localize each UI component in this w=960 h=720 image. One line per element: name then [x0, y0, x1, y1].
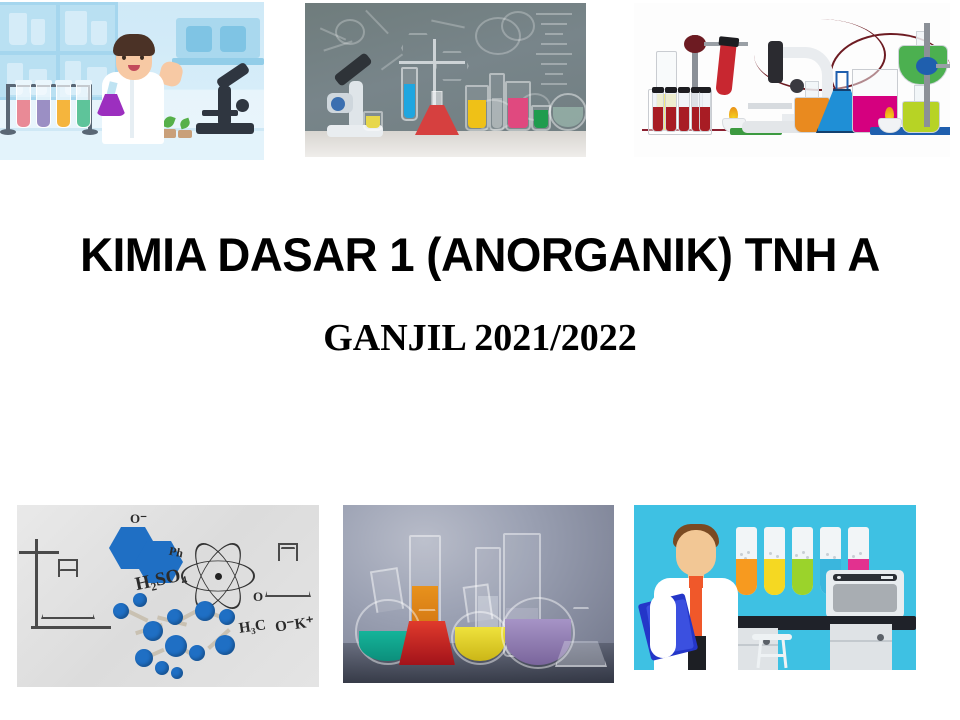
teal-flask-neck — [370, 567, 404, 613]
scientist-character-cyan — [648, 522, 744, 670]
lab-stool — [752, 634, 792, 668]
sketch-retort-stand — [35, 539, 38, 629]
yellow-beaker — [465, 85, 489, 131]
image-photo-glass-flasks-with-colored-liquids[interactable] — [343, 505, 614, 683]
image-vector-laboratory-apparatus-set[interactable] — [634, 3, 950, 157]
cabinet-right — [830, 624, 892, 670]
stand-pole-right — [924, 23, 930, 127]
label-o-minus: O⁻ — [130, 511, 147, 527]
small-yellow-beaker — [363, 111, 383, 131]
test-tube-green — [792, 527, 813, 595]
sketch-graduated-flask — [265, 543, 311, 597]
sketch-molecule-model — [109, 591, 259, 683]
clear-cylinder — [489, 73, 505, 131]
page-title: KIMIA DASAR 1 (ANORGANIK) TNH A — [14, 226, 945, 284]
vector-apparatus-artwork — [634, 3, 950, 157]
red-erlenmeyer — [399, 609, 455, 665]
title-block: KIMIA DASAR 1 (ANORGANIK) TNH A GANJIL 2… — [0, 226, 960, 359]
microscope-icon — [192, 72, 258, 134]
scientist-character — [92, 20, 176, 144]
image-flat-illustration-scientist-in-laboratory[interactable] — [0, 2, 264, 160]
lab-illustration-artwork — [0, 2, 264, 160]
yellow-green-flask — [902, 85, 940, 133]
image-photo-microscope-and-flasks-on-chalkboard-background[interactable] — [305, 3, 586, 157]
test-tube-rack-vector — [648, 89, 712, 135]
test-tube-rack — [6, 76, 90, 132]
wall-shelf-board — [172, 58, 264, 65]
round-bottom-flask — [549, 93, 586, 131]
image-hand-drawn-chemistry-sketches[interactable]: O⁻ Ph H₂SO₄ O H₃C O⁻K⁺ — [17, 505, 319, 687]
lab-equipment-box — [826, 570, 904, 618]
flask-photo-artwork — [343, 505, 614, 683]
spirit-burner-right — [878, 107, 900, 133]
label-ok: O⁻K⁺ — [274, 612, 315, 636]
green-beaker — [531, 105, 551, 131]
page-subtitle: GANJIL 2021/2022 — [0, 317, 960, 359]
clear-erlenmeyer — [555, 607, 607, 667]
dna-helix-doodle — [536, 9, 572, 95]
pink-beaker — [505, 81, 531, 131]
cyan-lab-artwork — [634, 505, 916, 670]
chalkboard-photo-artwork — [305, 3, 586, 157]
clamp — [684, 35, 706, 53]
red-erlenmeyer-flask — [415, 91, 459, 135]
image-flat-illustration-scientist-with-test-tubes[interactable] — [634, 505, 916, 670]
test-tube-yellow — [764, 527, 785, 595]
blood-sample-tube — [715, 42, 736, 95]
clamp-right — [916, 57, 938, 75]
yellow-flask-neck — [463, 583, 494, 622]
sketch-flask — [41, 559, 95, 619]
chemistry-sketch-artwork: O⁻ Ph H₂SO₄ O H₃C O⁻K⁺ — [17, 505, 319, 687]
wall-shelf — [176, 18, 260, 58]
slide-canvas: KIMIA DASAR 1 (ANORGANIK) TNH A GANJIL 2… — [0, 0, 960, 720]
